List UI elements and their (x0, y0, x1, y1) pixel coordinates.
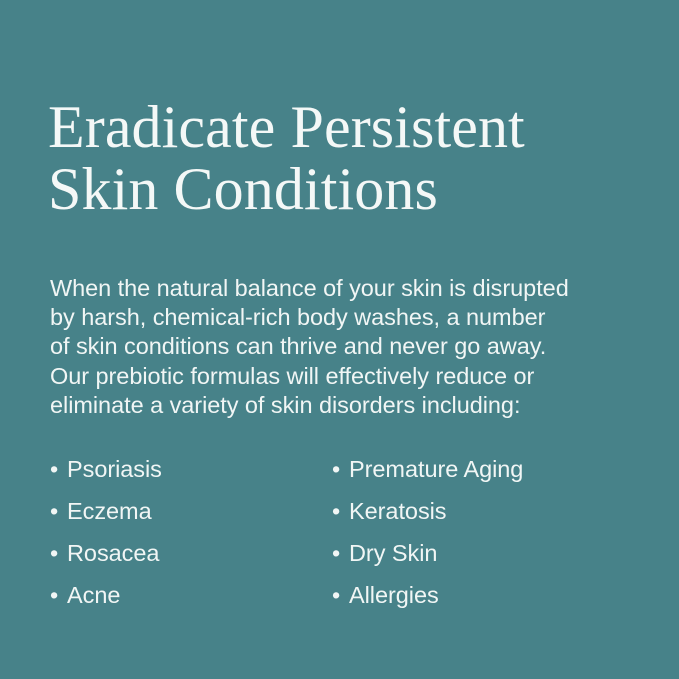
list-item: • Premature Aging (332, 448, 523, 490)
list-item: • Eczema (50, 490, 162, 532)
list-item: • Allergies (332, 574, 523, 616)
intro-line-2: by harsh, chemical-rich body washes, a n… (50, 303, 620, 332)
intro-line-3: of skin conditions can thrive and never … (50, 332, 620, 361)
intro-line-4: Our prebiotic formulas will effectively … (50, 362, 620, 391)
intro-paragraph: When the natural balance of your skin is… (50, 274, 620, 420)
list-item-label: Dry Skin (349, 532, 437, 574)
bullet-icon: • (332, 448, 349, 490)
bullet-icon: • (332, 532, 349, 574)
list-item-label: Rosacea (67, 532, 159, 574)
list-item-label: Allergies (349, 574, 439, 616)
conditions-column-left: • Psoriasis • Eczema • Rosacea • Acne (50, 448, 162, 616)
bullet-icon: • (332, 490, 349, 532)
list-item-label: Keratosis (349, 490, 447, 532)
list-item: • Keratosis (332, 490, 523, 532)
conditions-column-right: • Premature Aging • Keratosis • Dry Skin… (332, 448, 523, 616)
list-item: • Dry Skin (332, 532, 523, 574)
list-item: • Acne (50, 574, 162, 616)
promo-panel: Eradicate Persistent Skin Conditions Whe… (0, 0, 679, 679)
intro-line-5: eliminate a variety of skin disorders in… (50, 391, 620, 420)
bullet-icon: • (332, 574, 349, 616)
bullet-icon: • (50, 490, 67, 532)
list-item: • Psoriasis (50, 448, 162, 490)
list-item-label: Acne (67, 574, 120, 616)
bullet-icon: • (50, 532, 67, 574)
page-title-line-1: Eradicate Persistent (48, 96, 648, 158)
conditions-list: • Psoriasis • Eczema • Rosacea • Acne • … (0, 448, 679, 628)
intro-line-1: When the natural balance of your skin is… (50, 274, 620, 303)
list-item-label: Psoriasis (67, 448, 162, 490)
bullet-icon: • (50, 574, 67, 616)
list-item-label: Eczema (67, 490, 152, 532)
list-item-label: Premature Aging (349, 448, 523, 490)
bullet-icon: • (50, 448, 67, 490)
list-item: • Rosacea (50, 532, 162, 574)
page-title-line-2: Skin Conditions (48, 158, 648, 220)
page-title: Eradicate Persistent Skin Conditions (48, 96, 648, 220)
